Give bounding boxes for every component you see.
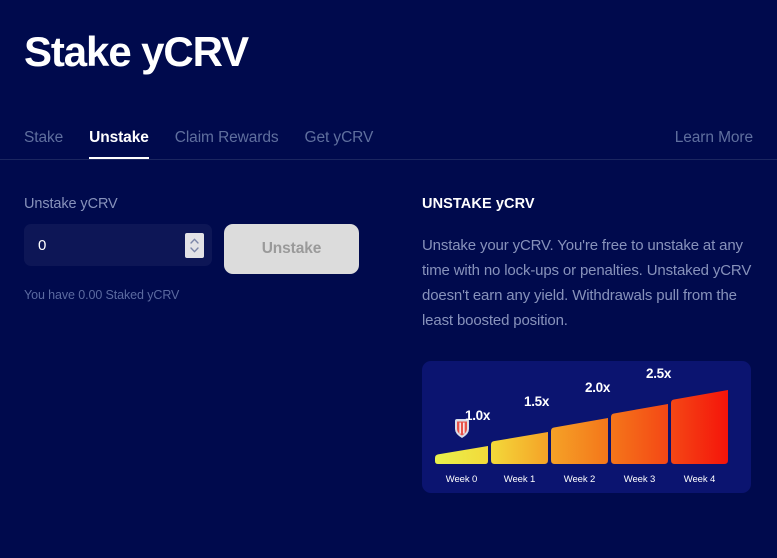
- tab-claim-rewards[interactable]: Claim Rewards: [175, 129, 279, 160]
- amount-input-wrapper[interactable]: [24, 224, 212, 266]
- amount-row: Unstake: [24, 224, 420, 274]
- boost-bar-week-0: [435, 446, 488, 464]
- boost-label-week-3: 2.0x: [585, 380, 610, 395]
- info-panel: UNSTAKE yCRV Unstake your yCRV. You're f…: [420, 196, 753, 493]
- boost-category-week-2: Week 2: [551, 474, 608, 485]
- unstake-submit-button[interactable]: Unstake: [224, 224, 359, 274]
- tab-list: Stake Unstake Claim Rewards Get yCRV: [24, 120, 373, 160]
- boost-bar-week-2: [551, 418, 608, 464]
- chevron-down-icon[interactable]: [190, 247, 199, 253]
- boost-label-week-2: 1.5x: [524, 394, 549, 409]
- boost-bar-week-1: [491, 432, 548, 464]
- boost-bar-week-3: [611, 404, 668, 464]
- learn-more-link[interactable]: Learn More: [675, 129, 753, 160]
- app-root: Stake yCRV Stake Unstake Claim Rewards G…: [0, 0, 777, 558]
- tab-bar: Stake Unstake Claim Rewards Get yCRV Lea…: [0, 120, 777, 160]
- boost-label-week-4: 2.5x: [646, 366, 671, 381]
- page-header: Stake yCRV: [0, 0, 777, 76]
- tab-bar-divider: [0, 159, 777, 160]
- boost-category-week-0: Week 0: [435, 474, 488, 485]
- info-description: Unstake your yCRV. You're free to unstak…: [422, 234, 753, 333]
- boost-label-week-1: 1.0x: [465, 408, 490, 423]
- boost-category-week-4: Week 4: [671, 474, 728, 485]
- chevron-up-icon[interactable]: [190, 238, 199, 244]
- tab-get-ycrv[interactable]: Get yCRV: [305, 129, 374, 160]
- boost-category-week-3: Week 3: [611, 474, 668, 485]
- amount-input[interactable]: [38, 237, 185, 254]
- page-title: Stake yCRV: [24, 22, 753, 76]
- info-title: UNSTAKE yCRV: [422, 196, 753, 212]
- boost-category-week-1: Week 1: [491, 474, 548, 485]
- staked-balance-text: You have 0.00 Staked yCRV: [24, 288, 420, 302]
- unstake-form: Unstake yCRV: [24, 196, 420, 493]
- tab-unstake[interactable]: Unstake: [89, 129, 149, 160]
- amount-field-label: Unstake yCRV: [24, 196, 420, 212]
- tab-stake[interactable]: Stake: [24, 129, 63, 160]
- main-content: Unstake yCRV: [0, 196, 777, 493]
- boost-bar-week-4: [671, 390, 728, 464]
- boost-chart-card: 1.0x 1.5x 2.0x 2.5x Week 0 Week 1 Week 2…: [422, 361, 751, 493]
- amount-stepper[interactable]: [185, 233, 204, 258]
